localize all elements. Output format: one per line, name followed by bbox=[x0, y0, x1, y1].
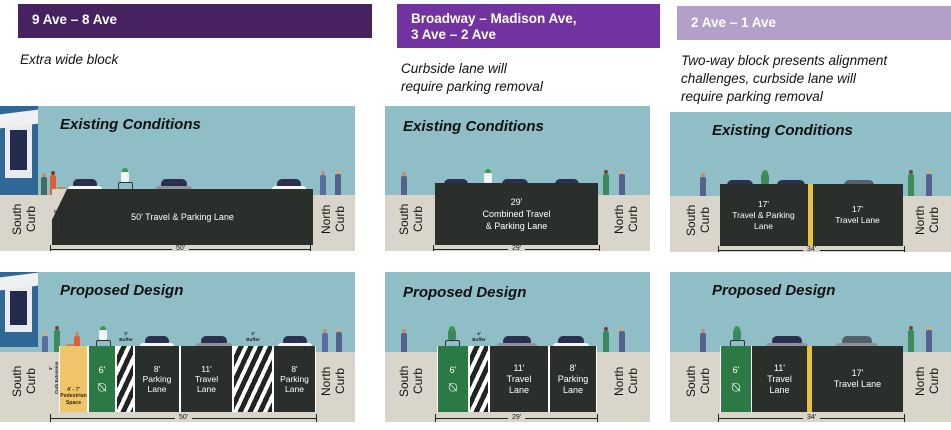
column-header-3: 2 Ave – 1 Ave bbox=[677, 6, 951, 40]
centerline-yellow bbox=[807, 346, 812, 412]
dimension-label: 34' bbox=[803, 414, 820, 421]
column-broadway-madison: Broadway – Madison Ave, 3 Ave – 2 Ave Cu… bbox=[385, 0, 660, 430]
lane-parking-west: 8' Parking Lane bbox=[134, 346, 180, 412]
diagram-existing-3: Existing Conditions South Curb North bbox=[670, 112, 951, 252]
storefront-building bbox=[0, 272, 38, 347]
curb-extension-dim-existing-1: 3' bbox=[53, 205, 58, 217]
dimension-label: 50' bbox=[172, 245, 189, 252]
lane-label: 6' bbox=[99, 365, 106, 375]
pedestrian bbox=[603, 170, 609, 195]
north-curb-label-proposed-3: North Curb bbox=[913, 352, 941, 410]
pedestrian bbox=[926, 326, 932, 352]
lane-roadway: 29' Combined Travel & Parking Lane bbox=[435, 183, 598, 245]
diagram-title-existing-3: Existing Conditions bbox=[712, 122, 853, 139]
pedestrian bbox=[700, 173, 706, 196]
lane-label: 8' Parking Lane bbox=[280, 364, 309, 394]
dimension-label: 34' bbox=[803, 246, 820, 253]
bike-symbol-icon: ⍉ bbox=[732, 381, 740, 393]
buffer-label-west: 3' Buffer bbox=[114, 331, 138, 342]
dimension-label: 29' bbox=[508, 414, 525, 421]
curb-extension-label-proposed-1: Curb Extension bbox=[54, 360, 59, 396]
pedestrian bbox=[322, 329, 328, 352]
lane-buffer bbox=[469, 346, 489, 412]
north-curb-label-existing-3: North Curb bbox=[913, 196, 941, 244]
diagram-proposed-1: Proposed Design bbox=[0, 272, 355, 422]
lane-travel-east: 17' Travel Lane bbox=[812, 184, 903, 246]
lane-travel-parking-west: 17' Travel & Parking Lane bbox=[720, 184, 807, 246]
diagram-title-proposed-2: Proposed Design bbox=[403, 284, 526, 301]
lane-buffer-east bbox=[233, 346, 273, 412]
curb-extension-label-existing-1: Curb Extension bbox=[59, 201, 64, 235]
lane-label: 50' Travel & Parking Lane bbox=[131, 212, 234, 222]
dimension-proposed-2: 29' bbox=[435, 412, 598, 422]
column-header-1: 9 Ave – 8 Ave bbox=[18, 4, 372, 38]
lane-bike: 6' ⍉ bbox=[720, 346, 752, 412]
lane-label: 8' Parking Lane bbox=[143, 364, 172, 394]
lane-label: 17' Travel & Parking Lane bbox=[732, 199, 795, 232]
lane-travel: 11' Travel Lane bbox=[180, 346, 233, 412]
lane-label: 17' Travel Lane bbox=[834, 368, 881, 390]
lane-label: 6' bbox=[733, 365, 740, 375]
north-curb-label-existing-2: North Curb bbox=[612, 195, 640, 243]
pedestrian bbox=[926, 170, 932, 196]
pedestrian bbox=[603, 327, 609, 352]
lane-travel: 11' Travel Lane bbox=[489, 346, 549, 412]
lane-label: 8' Parking Lane bbox=[558, 363, 589, 396]
column-subtitle-3: Two-way block presents alignment challen… bbox=[681, 52, 951, 106]
column-subtitle-2: Curbside lane will require parking remov… bbox=[401, 60, 660, 96]
diagram-proposed-2: Proposed Design South Curb North Curb 6'… bbox=[385, 272, 650, 422]
column-2ave-1ave: 2 Ave – 1 Ave Two-way block presents ali… bbox=[665, 0, 951, 430]
pedestrian bbox=[700, 329, 706, 352]
pedestrian bbox=[619, 170, 625, 195]
curb-extension-dim-proposed-1: 3' bbox=[48, 362, 53, 374]
lane-pedestrian-space: 4' - 7' Pedestrian Space bbox=[59, 346, 88, 412]
dimension-existing-2: 29' bbox=[433, 243, 600, 251]
pedestrian bbox=[401, 329, 407, 352]
lane-travel-east: 17' Travel Lane bbox=[812, 346, 903, 412]
column-9ave-8ave: 9 Ave – 8 Ave Extra wide block Existing … bbox=[0, 0, 372, 430]
dimension-proposed-3: 34' bbox=[718, 412, 905, 422]
dimension-proposed-1: 50' bbox=[50, 412, 317, 422]
pedestrian bbox=[908, 170, 914, 196]
lane-roadway: 50' Travel & Parking Lane bbox=[52, 189, 313, 245]
diagram-title-existing-1: Existing Conditions bbox=[60, 116, 201, 133]
south-curb-label-proposed-1: South Curb bbox=[10, 352, 38, 410]
pedestrian bbox=[335, 170, 341, 195]
south-curb-label-existing-3: South Curb bbox=[684, 196, 712, 244]
lane-parking: 8' Parking Lane bbox=[549, 346, 597, 412]
diagram-existing-1: Existing Conditions bbox=[0, 106, 355, 251]
lane-parking-east: 8' Parking Lane bbox=[273, 346, 316, 412]
dimension-label: 50' bbox=[175, 414, 192, 421]
pedestrian bbox=[41, 173, 47, 195]
lane-bike: 6' ⍉ bbox=[88, 346, 116, 412]
lane-label: 11' Travel Lane bbox=[767, 363, 792, 396]
storefront-building bbox=[0, 106, 38, 195]
pedestrian bbox=[619, 327, 625, 352]
bike-symbol-icon: ⍉ bbox=[449, 381, 457, 393]
lane-label: 17' Travel Lane bbox=[835, 204, 880, 226]
column-header-2: Broadway – Madison Ave, 3 Ave – 2 Ave bbox=[397, 4, 660, 48]
bike-symbol-icon: ⍉ bbox=[98, 381, 106, 393]
south-curb-label-existing-2: South Curb bbox=[397, 195, 425, 243]
north-curb-label-existing-1: North Curb bbox=[319, 195, 347, 243]
pedestrian bbox=[42, 332, 48, 352]
diagram-proposed-3: Proposed Design South Curb North Curb 6'… bbox=[670, 272, 951, 422]
pedestrian bbox=[401, 172, 407, 195]
pedestrian bbox=[320, 171, 326, 195]
lane-label: 11' Travel Lane bbox=[507, 363, 532, 396]
buffer-label: 4' Buffer bbox=[467, 331, 491, 342]
lane-label: 29' Combined Travel & Parking Lane bbox=[482, 196, 550, 232]
buffer-label-east: 3' Buffer bbox=[241, 331, 265, 342]
diagram-title-proposed-1: Proposed Design bbox=[60, 282, 183, 299]
lane-label: 11' Travel Lane bbox=[195, 364, 218, 394]
lane-bike: 6' ⍉ bbox=[437, 346, 469, 412]
diagram-existing-2: Existing Conditions South Curb North bbox=[385, 106, 650, 251]
centerline-yellow bbox=[807, 184, 814, 246]
diagram-title-proposed-3: Proposed Design bbox=[712, 282, 835, 299]
lane-travel-west: 11' Travel Lane bbox=[752, 346, 807, 412]
dimension-existing-1: 50' bbox=[50, 243, 311, 251]
diagram-title-existing-2: Existing Conditions bbox=[403, 118, 544, 135]
south-curb-label-proposed-2: South Curb bbox=[397, 352, 425, 410]
column-subtitle-1: Extra wide block bbox=[20, 51, 372, 69]
north-curb-label-proposed-2: North Curb bbox=[612, 352, 640, 410]
dimension-existing-3: 34' bbox=[718, 244, 905, 252]
lane-buffer bbox=[116, 346, 134, 412]
north-curb-label-proposed-1: North Curb bbox=[319, 352, 347, 410]
lane-label: 4' - 7' Pedestrian Space bbox=[60, 387, 87, 406]
pedestrian bbox=[336, 328, 342, 352]
south-curb-label-proposed-3: South Curb bbox=[684, 352, 712, 410]
pedestrian bbox=[908, 326, 914, 352]
dimension-label: 29' bbox=[508, 245, 525, 252]
south-curb-label-existing-1: South Curb bbox=[10, 195, 38, 243]
lane-label: 6' bbox=[450, 365, 457, 375]
